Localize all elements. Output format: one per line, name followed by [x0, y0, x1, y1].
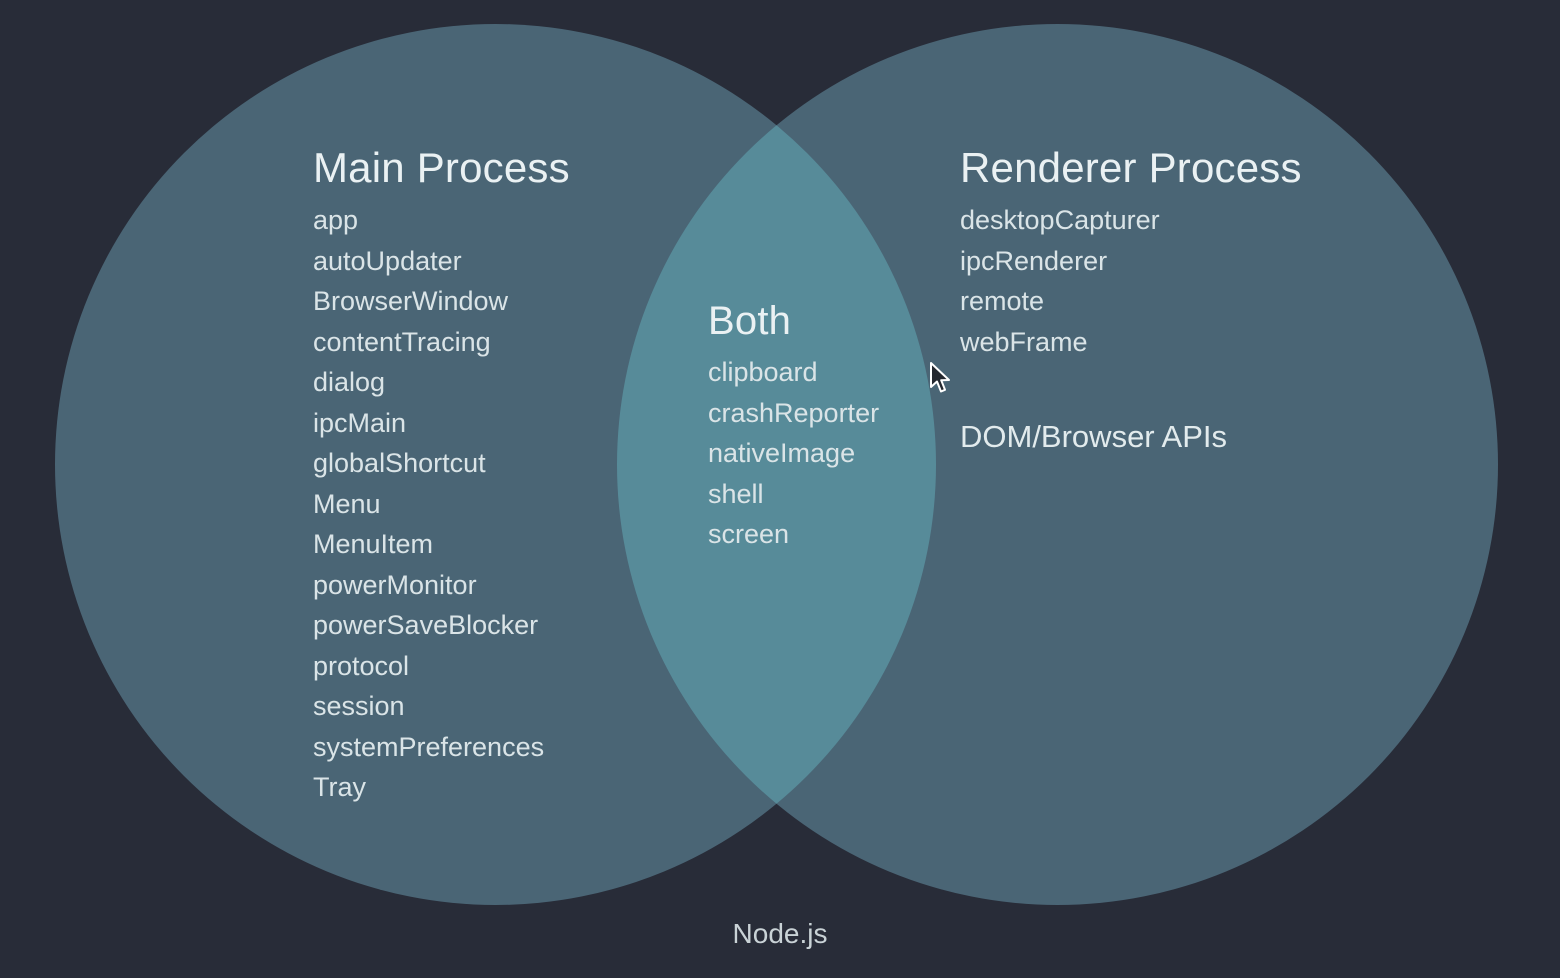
list-item: shell — [708, 474, 879, 515]
both-api-list: clipboard crashReporter nativeImage shel… — [708, 352, 879, 555]
list-item: Menu — [313, 484, 570, 525]
list-item: screen — [708, 514, 879, 555]
list-item: ipcRenderer — [960, 241, 1302, 282]
list-item: desktopCapturer — [960, 200, 1302, 241]
list-item: crashReporter — [708, 393, 879, 434]
list-item: remote — [960, 281, 1302, 322]
main-process-heading: Main Process — [313, 146, 570, 190]
list-item: webFrame — [960, 322, 1302, 363]
renderer-dom-apis-note: DOM/Browser APIs — [960, 419, 1302, 455]
list-item: globalShortcut — [313, 443, 570, 484]
list-item: MenuItem — [313, 524, 570, 565]
arrow-pointer-icon — [929, 362, 953, 396]
main-process-api-list: app autoUpdater BrowserWindow contentTra… — [313, 200, 570, 808]
main-process-group: Main Process app autoUpdater BrowserWind… — [313, 146, 570, 808]
list-item: contentTracing — [313, 322, 570, 363]
list-item: clipboard — [708, 352, 879, 393]
both-group: Both clipboard crashReporter nativeImage… — [708, 300, 879, 555]
list-item: app — [313, 200, 570, 241]
renderer-process-group: Renderer Process desktopCapturer ipcRend… — [960, 146, 1302, 455]
nodejs-caption: Node.js — [0, 918, 1560, 950]
both-heading: Both — [708, 300, 879, 342]
venn-diagram-slide: Main Process app autoUpdater BrowserWind… — [0, 0, 1560, 978]
list-item: autoUpdater — [313, 241, 570, 282]
renderer-process-heading: Renderer Process — [960, 146, 1302, 190]
list-item: Tray — [313, 767, 570, 808]
list-item: ipcMain — [313, 403, 570, 444]
list-item: session — [313, 686, 570, 727]
renderer-process-api-list: desktopCapturer ipcRenderer remote webFr… — [960, 200, 1302, 362]
list-item: protocol — [313, 646, 570, 687]
list-item: systemPreferences — [313, 727, 570, 768]
list-item: powerSaveBlocker — [313, 605, 570, 646]
list-item: dialog — [313, 362, 570, 403]
list-item: powerMonitor — [313, 565, 570, 606]
list-item: BrowserWindow — [313, 281, 570, 322]
list-item: nativeImage — [708, 433, 879, 474]
